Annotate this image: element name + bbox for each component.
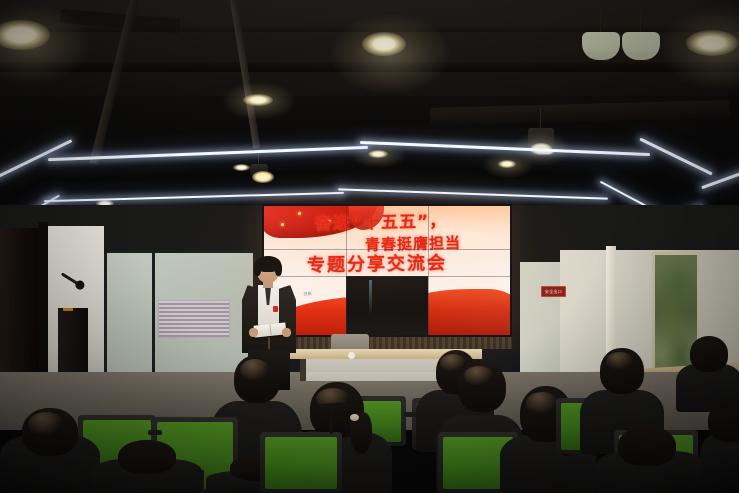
air-vent-icon [158, 300, 230, 338]
chair-front-center-1 [260, 432, 342, 493]
attendee-back-right-2 [676, 336, 739, 412]
slide-content: 奋进“十五五”， 青春挺膺担当 专题分享交流会 创新 [264, 206, 510, 335]
attendee-back-right-1 [596, 426, 706, 493]
pendant-cord-3 [540, 108, 541, 130]
attendee-hair-highlight [464, 366, 494, 386]
ceiling-duct-right [430, 100, 730, 126]
ceiling-beam-main [0, 62, 739, 72]
attendee-front-left-1 [0, 408, 100, 493]
exit-sign-label: 安全出口 [545, 290, 562, 294]
glass-mullion-left [104, 250, 107, 385]
attendee-body [700, 433, 739, 493]
pendant-light-icon-2 [622, 32, 660, 60]
chair-armrest-left [148, 430, 162, 435]
hair-scrunchie-icon [350, 414, 359, 421]
video-wall-seam-v1 [346, 206, 347, 335]
downlight-icon-6 [233, 164, 250, 171]
attendee-hair-highlight [240, 359, 270, 381]
attendee-head [618, 426, 676, 466]
downlight-icon-2 [362, 32, 406, 56]
attendee-head [118, 440, 176, 474]
presenter-badge [273, 306, 278, 312]
presenter-hand-left [249, 328, 258, 337]
pendant-cord-1 [600, 6, 601, 32]
video-wall-seam-v2 [428, 206, 429, 335]
floor-microphone-pole [330, 406, 333, 434]
chair-cushion [265, 437, 337, 489]
attendee-head [690, 336, 728, 372]
cup-icon [348, 352, 355, 359]
stage-baseboard [262, 337, 512, 349]
photo-scene: 安全出口 奋进“十五五”， 青春挺膺担当 专题分享交流会 创新 [0, 0, 739, 493]
chair-frame [260, 432, 342, 493]
downlight-icon-7 [498, 160, 516, 168]
glass-header [104, 250, 256, 253]
glasses-icon [259, 268, 278, 273]
video-wall-seam-h1 [264, 249, 510, 250]
downlight-icon-5 [368, 150, 388, 158]
led-strip-inner-right [338, 188, 608, 199]
downlight-icon-3 [686, 30, 738, 56]
glass-mullion-mid [152, 250, 155, 385]
led-strip-inner-left [44, 192, 344, 202]
attendee-hair-highlight [526, 392, 558, 414]
attendee-front-left-2 [92, 440, 202, 493]
led-video-wall[interactable]: 奋进“十五五”， 青春挺膺担当 专题分享交流会 创新 [262, 204, 512, 337]
equipment-rack-led-icon [63, 308, 73, 311]
led-strip-outer-top-right [360, 141, 650, 156]
ceiling [0, 0, 739, 215]
attendee-edge-right-1 [700, 400, 739, 493]
video-wall-seam-h2 [264, 276, 510, 277]
pendant-drum-light-icon [528, 128, 554, 148]
presenter-hand-right [282, 328, 291, 337]
attendee-hair-highlight [606, 352, 634, 370]
pendant-cord-2 [640, 6, 641, 32]
downlight-icon-4 [243, 94, 273, 106]
attendee-hair-highlight [28, 412, 64, 436]
video-wall-dead-tile [346, 276, 428, 335]
led-strip-outer-tr [639, 138, 712, 176]
slide-subtext: 创新 [303, 291, 312, 297]
track-light-icon [250, 164, 268, 176]
exit-sign: 安全出口 [541, 286, 566, 297]
pendant-light-icon-1 [582, 32, 620, 60]
